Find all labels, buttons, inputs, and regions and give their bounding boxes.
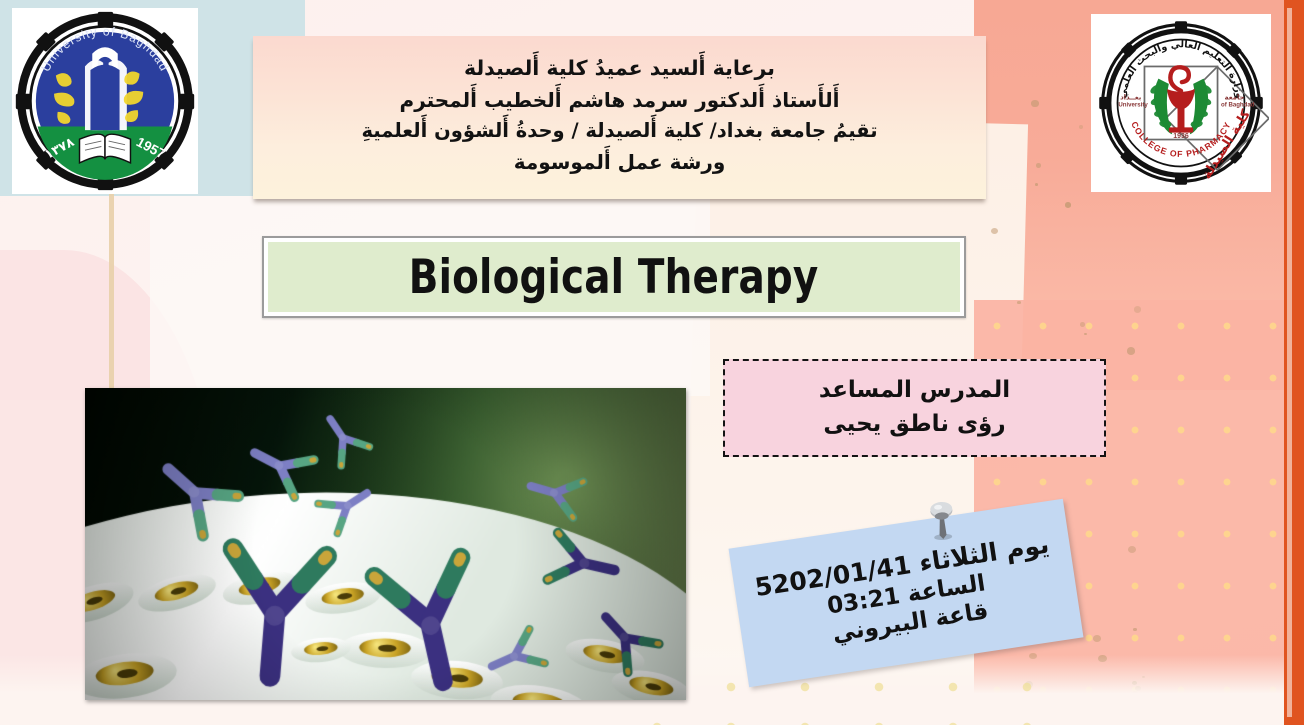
header-text-box: برعاية أَلسيد عميدُ كلية أَلصيدلة أَلأَس… [253, 36, 986, 199]
header-line-1: برعاية أَلسيد عميدُ كلية أَلصيدلة [464, 53, 775, 83]
header-line-4: ورشة عمل أَلموسومة [514, 148, 726, 178]
svg-text:بغــداد: بغــداد [1120, 94, 1142, 102]
svg-text:جامعة: جامعة [1225, 94, 1245, 102]
svg-text:1936: 1936 [1173, 133, 1189, 140]
antibody-illustration [85, 388, 686, 700]
background-orange-edge-strip [1284, 0, 1304, 725]
college-of-pharmacy-logo: 1936 وزارة التعليم العالي والبحث العلمي … [1091, 14, 1271, 192]
speaker-box: المدرس المساعد رؤى ناطق يحيى [723, 359, 1106, 457]
svg-text:of Baghdad: of Baghdad [1221, 101, 1255, 108]
antibody-illustration-canvas [85, 388, 686, 700]
speaker-role: المدرس المساعد [819, 376, 1010, 406]
background-orange-edge-inner [1287, 8, 1292, 717]
university-of-baghdad-logo: 1957 ١٣٧٨ University of Baghdad [12, 8, 198, 194]
speaker-name: رؤى ناطق يحيى [823, 410, 1005, 440]
pushpin-icon [923, 496, 960, 544]
header-line-3: تقيمُ جامعة بغداد/ كلية أَلصيدلة / وحدةُ… [361, 117, 877, 146]
workshop-title-inner: Biological Therapy [268, 242, 960, 312]
workshop-title-box: Biological Therapy [262, 236, 966, 318]
event-details-note-wrapper: يوم الثلاثاء 14/10/2025 الساعة 12:30 قاع… [737, 505, 1092, 690]
header-line-2: أَلأَستاذ أَلدكتور سرمد هاشم أَلخطيب أَل… [400, 86, 840, 116]
background-pink-left-column [0, 400, 86, 725]
poster-canvas: 1957 ١٣٧٨ University of Baghdad [0, 0, 1304, 725]
svg-text:University: University [1118, 101, 1148, 108]
event-details-note: يوم الثلاثاء 14/10/2025 الساعة 12:30 قاع… [729, 499, 1084, 687]
page-title: Biological Therapy [409, 250, 819, 305]
